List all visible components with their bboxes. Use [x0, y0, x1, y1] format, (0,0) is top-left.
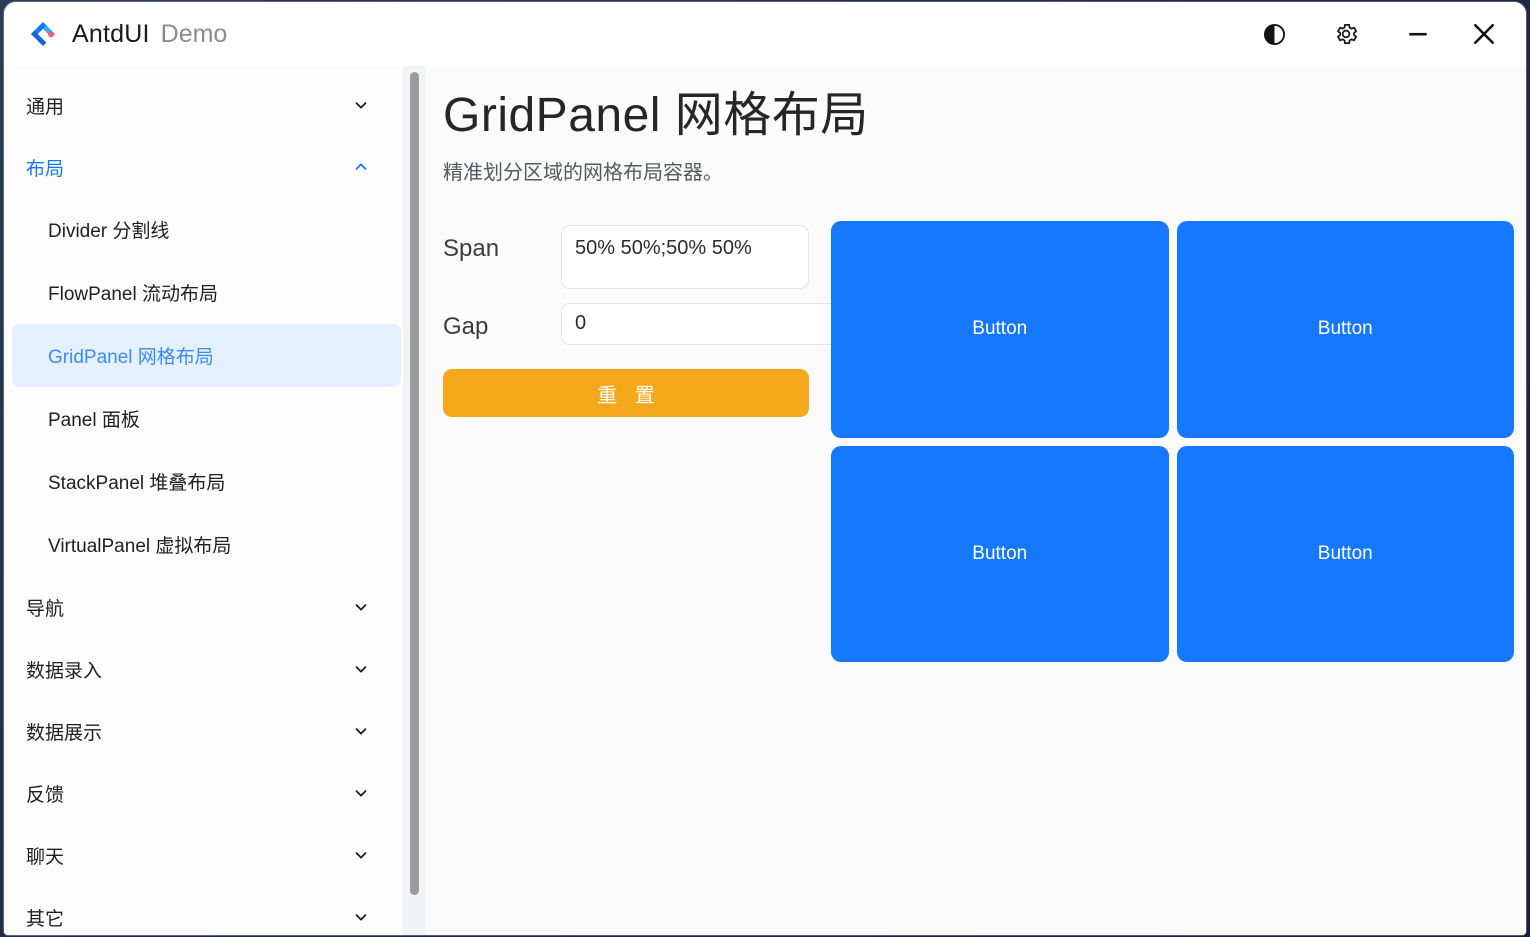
grid-button-4[interactable]: Button [1177, 446, 1515, 663]
sidebar-group-label: 数据录入 [26, 656, 352, 683]
sidebar-item-gridpanel[interactable]: GridPanel 网格布局 [12, 324, 401, 387]
chevron-down-icon [352, 908, 370, 926]
app-subtitle: Demo [161, 20, 228, 49]
sidebar-scrollbar-thumb[interactable] [410, 72, 419, 895]
chevron-down-icon [352, 660, 370, 678]
window-body: 通用 布局 Divider 分割线 FlowPanel 流动布局 [4, 66, 1526, 935]
chevron-down-icon [352, 784, 370, 802]
sidebar-group-other[interactable]: 其它 [4, 886, 403, 935]
span-input[interactable]: 50% 50%;50% 50% [561, 225, 809, 289]
demo-area: Span 50% 50%;50% 50% Gap 重 置 Button Butt… [443, 221, 1506, 667]
sidebar-item-panel[interactable]: Panel 面板 [12, 387, 401, 450]
span-field-row: Span 50% 50%;50% 50% [443, 225, 809, 289]
sidebar-group-data-entry[interactable]: 数据录入 [4, 638, 403, 700]
page-description: 精准划分区域的网格布局容器。 [443, 156, 1506, 185]
sidebar-scroll-content: 通用 布局 Divider 分割线 FlowPanel 流动布局 [4, 66, 403, 935]
page-title: GridPanel 网格布局 [443, 86, 1506, 146]
main-content: GridPanel 网格布局 精准划分区域的网格布局容器。 Span 50% 5… [425, 66, 1526, 935]
grid-panel-preview: Button Button Button Button [831, 221, 1506, 654]
sidebar-item-label: StackPanel 堆叠布局 [48, 468, 225, 495]
antdui-logo-icon [26, 17, 60, 51]
grid-button-3[interactable]: Button [831, 446, 1169, 663]
grid-button-1[interactable]: Button [831, 221, 1169, 438]
sidebar-group-general[interactable]: 通用 [4, 74, 403, 136]
sidebar: 通用 布局 Divider 分割线 FlowPanel 流动布局 [4, 66, 425, 935]
minimize-icon [1405, 21, 1431, 47]
gap-label: Gap [443, 303, 561, 341]
sidebar-item-flowpanel[interactable]: FlowPanel 流动布局 [12, 261, 401, 324]
settings-button[interactable] [1318, 2, 1374, 66]
chevron-down-icon [352, 96, 370, 114]
app-name: AntdUI [72, 20, 150, 49]
sidebar-item-label: Divider 分割线 [48, 216, 169, 243]
span-label: Span [443, 225, 561, 263]
theme-toggle-button[interactable] [1246, 2, 1302, 66]
sidebar-item-stackpanel[interactable]: StackPanel 堆叠布局 [12, 450, 401, 513]
close-icon [1469, 19, 1499, 49]
app-window: AntdUI Demo [4, 2, 1526, 935]
gap-input[interactable] [561, 303, 854, 345]
grid-button-2[interactable]: Button [1177, 221, 1515, 438]
sidebar-item-label: GridPanel 网格布局 [48, 342, 214, 369]
sidebar-group-label: 导航 [26, 594, 352, 621]
sidebar-group-data-display[interactable]: 数据展示 [4, 700, 403, 762]
sidebar-group-label: 布局 [26, 154, 352, 181]
sidebar-group-label: 数据展示 [26, 718, 352, 745]
gear-icon [1333, 21, 1359, 47]
close-button[interactable] [1456, 2, 1512, 66]
sidebar-scrollbar[interactable] [403, 66, 425, 935]
sidebar-item-divider[interactable]: Divider 分割线 [12, 198, 401, 261]
gap-field-row: Gap [443, 303, 809, 345]
chevron-down-icon [352, 722, 370, 740]
sidebar-group-label: 通用 [26, 92, 352, 119]
minimize-button[interactable] [1390, 2, 1446, 66]
title-bar: AntdUI Demo [4, 2, 1526, 66]
sidebar-group-navigation[interactable]: 导航 [4, 576, 403, 638]
sidebar-group-label: 其它 [26, 904, 352, 931]
sidebar-item-label: Panel 面板 [48, 405, 140, 432]
settings-form: Span 50% 50%;50% 50% Gap 重 置 [443, 221, 809, 667]
sidebar-group-label: 聊天 [26, 842, 352, 869]
sidebar-group-feedback[interactable]: 反馈 [4, 762, 403, 824]
reset-button[interactable]: 重 置 [443, 369, 809, 417]
sidebar-group-chat[interactable]: 聊天 [4, 824, 403, 886]
sidebar-item-label: FlowPanel 流动布局 [48, 279, 218, 306]
chevron-up-icon [352, 158, 370, 176]
chevron-down-icon [352, 598, 370, 616]
sidebar-item-label: VirtualPanel 虚拟布局 [48, 531, 231, 558]
sidebar-group-layout[interactable]: 布局 [4, 136, 403, 198]
chevron-down-icon [352, 846, 370, 864]
sidebar-item-virtualpanel[interactable]: VirtualPanel 虚拟布局 [12, 513, 401, 576]
theme-toggle-icon [1262, 22, 1287, 47]
sidebar-group-label: 反馈 [26, 780, 352, 807]
